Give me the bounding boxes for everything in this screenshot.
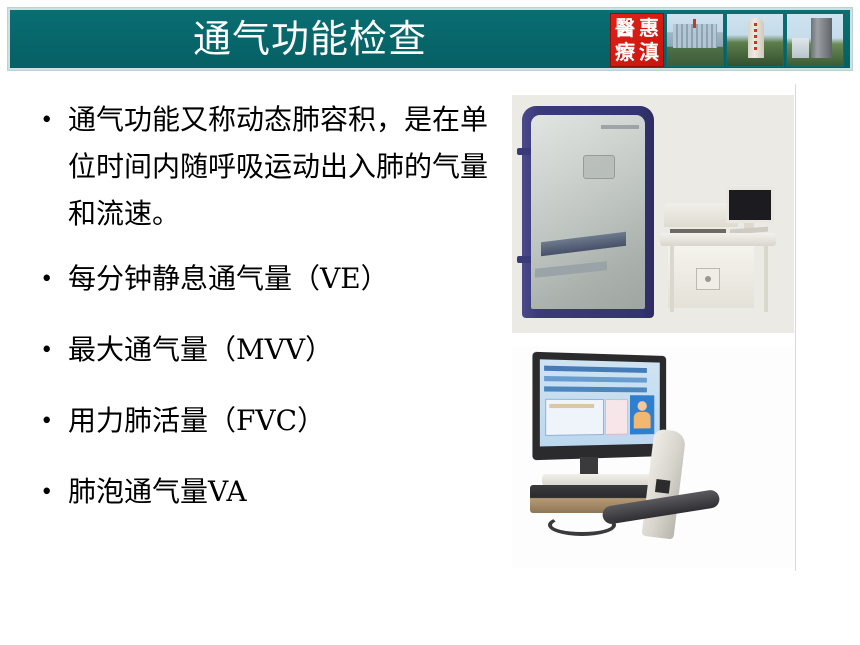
list-item-label: 通气功能又称动态肺容积，是在单位时间内随呼吸运动出入肺的气量和流速。 <box>68 96 504 237</box>
seal-char-3: 療 <box>613 40 637 64</box>
booth-hinge-upper <box>517 148 531 155</box>
bullet-icon: • <box>34 255 68 302</box>
list-item: • 每分钟静息通气量（VE） <box>34 255 504 302</box>
content-divider <box>795 84 796 571</box>
hospital-building-photo-3 <box>786 13 844 67</box>
list-item-label: 肺泡通气量VA <box>68 468 504 515</box>
presentation-slide: 通气功能检查 醫 惠 療 滇 • 通气功能又称动态肺容积，是在单位时间内随呼吸运… <box>0 0 860 645</box>
sensor-cable <box>548 514 616 536</box>
hospital-building-photo-1 <box>666 13 724 67</box>
booth-glass-door <box>531 115 645 309</box>
cart-monitor-screen <box>726 187 774 223</box>
bullet-icon: • <box>34 96 68 143</box>
screen-bar-1 <box>544 366 647 373</box>
list-item: • 通气功能又称动态肺容积，是在单位时间内随呼吸运动出入肺的气量和流速。 <box>34 96 504 237</box>
body-plethysmograph-photo <box>512 95 794 333</box>
page-title: 通气功能检查 <box>10 10 610 68</box>
booth-seat <box>541 232 626 256</box>
list-item: • 最大通气量（MVV） <box>34 326 504 373</box>
slide-header-bar: 通气功能检查 醫 惠 療 滇 <box>8 8 852 70</box>
spirometer-screen <box>540 359 660 446</box>
bullet-icon: • <box>34 326 68 373</box>
screen-data-panel <box>545 399 604 436</box>
cart-control-knob <box>696 268 720 290</box>
cart-desktop-surface <box>660 233 776 246</box>
seal-char-2: 惠 <box>637 16 661 40</box>
hospital-building-photo-2 <box>726 13 784 67</box>
list-item-label: 最大通气量（MVV） <box>68 326 504 373</box>
screen-bar-2 <box>544 376 647 383</box>
workstation-cart <box>664 187 776 315</box>
cart-leg-left <box>670 246 674 312</box>
screen-patient-avatar-icon <box>630 395 654 434</box>
list-item: • 肺泡通气量VA <box>34 468 504 515</box>
brand-seal-icon: 醫 惠 療 滇 <box>610 13 664 67</box>
list-item: • 用力肺活量（FVC） <box>34 397 504 444</box>
slide-body-text: • 通气功能又称动态肺容积，是在单位时间内随呼吸运动出入肺的气量和流速。 • 每… <box>34 96 504 539</box>
screen-side-card <box>605 399 628 435</box>
list-item-label: 每分钟静息通气量（VE） <box>68 255 504 302</box>
plethysmograph-booth <box>522 106 654 318</box>
booth-hinge-lower <box>517 256 531 263</box>
spirometer-monitor-neck <box>580 457 598 475</box>
spirometer-monitor <box>532 352 666 460</box>
slide-figure-column <box>512 95 794 568</box>
list-item-label: 用力肺活量（FVC） <box>68 397 504 444</box>
screen-bar-3 <box>544 386 647 392</box>
bullet-icon: • <box>34 397 68 444</box>
seal-char-4: 滇 <box>637 40 661 64</box>
bullet-icon: • <box>34 468 68 515</box>
hospital-brand-logo: 醫 惠 療 滇 <box>610 13 844 67</box>
desktop-spirometer-photo <box>512 346 794 568</box>
cart-cabinet <box>668 246 754 308</box>
booth-footrest <box>535 261 607 278</box>
seal-char-1: 醫 <box>613 16 637 40</box>
mouthpiece-assembly <box>583 155 615 179</box>
booth-brand-label <box>601 125 639 129</box>
cart-leg-right <box>764 246 768 312</box>
